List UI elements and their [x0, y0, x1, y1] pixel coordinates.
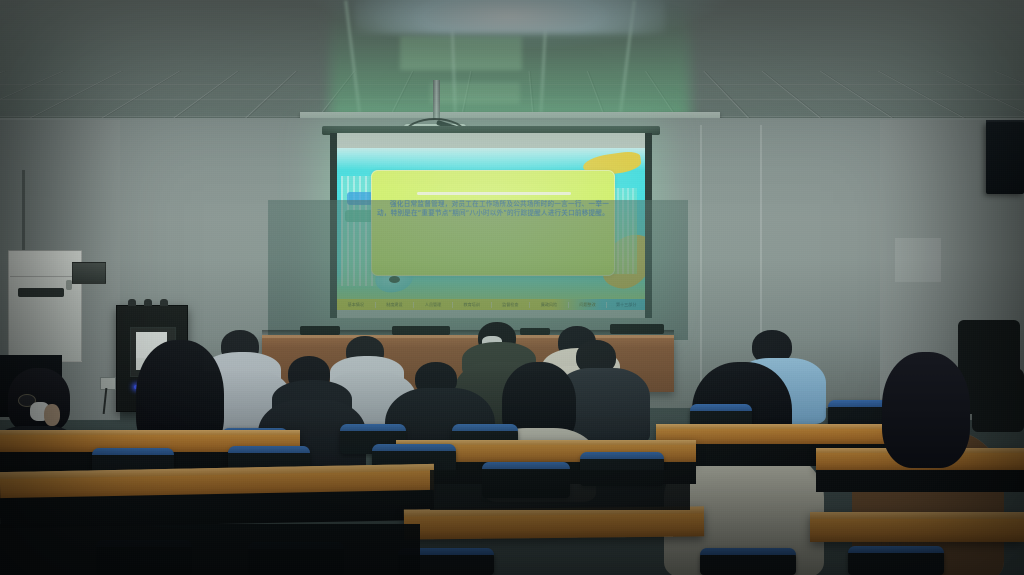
ceiling [0, 0, 1024, 128]
ceiling-lit-panel [430, 82, 520, 104]
desk-edge [810, 512, 1024, 519]
wall-speaker [986, 122, 1024, 194]
chair [700, 548, 796, 575]
podium-object [300, 326, 340, 335]
desk-edge [0, 430, 300, 435]
ac-vent [18, 288, 64, 297]
hand [44, 404, 60, 426]
floor-shadow [0, 524, 420, 575]
wall-cable [22, 170, 25, 250]
slide-card-notch [417, 192, 571, 195]
ceiling-lit-panel [400, 36, 522, 70]
stacked-chair [972, 392, 1024, 432]
desk-underside [816, 470, 1024, 492]
wall-patch [895, 238, 941, 282]
wall-control-box [72, 262, 106, 284]
air-conditioner [8, 250, 82, 362]
podium-object [610, 324, 664, 334]
cabinet-knob [128, 299, 136, 306]
cabinet-knob [160, 299, 168, 306]
podium-object [520, 328, 550, 335]
chair [848, 546, 944, 575]
ceiling-light [355, 0, 665, 34]
wall-seam [700, 125, 702, 415]
ac-seam [10, 276, 78, 277]
long-hair [882, 352, 970, 468]
floor-shadow [430, 470, 690, 510]
cabinet-knob [144, 299, 152, 306]
projector-mount-pole [433, 80, 440, 120]
wall-power-outlet [100, 377, 116, 390]
chalkboard [268, 200, 688, 340]
classroom-photo: 强化日常监督管理，对员工在工作场所及公共场所时的一言一行、一举一动，特别是在“重… [0, 0, 1024, 575]
podium-object [392, 326, 450, 335]
